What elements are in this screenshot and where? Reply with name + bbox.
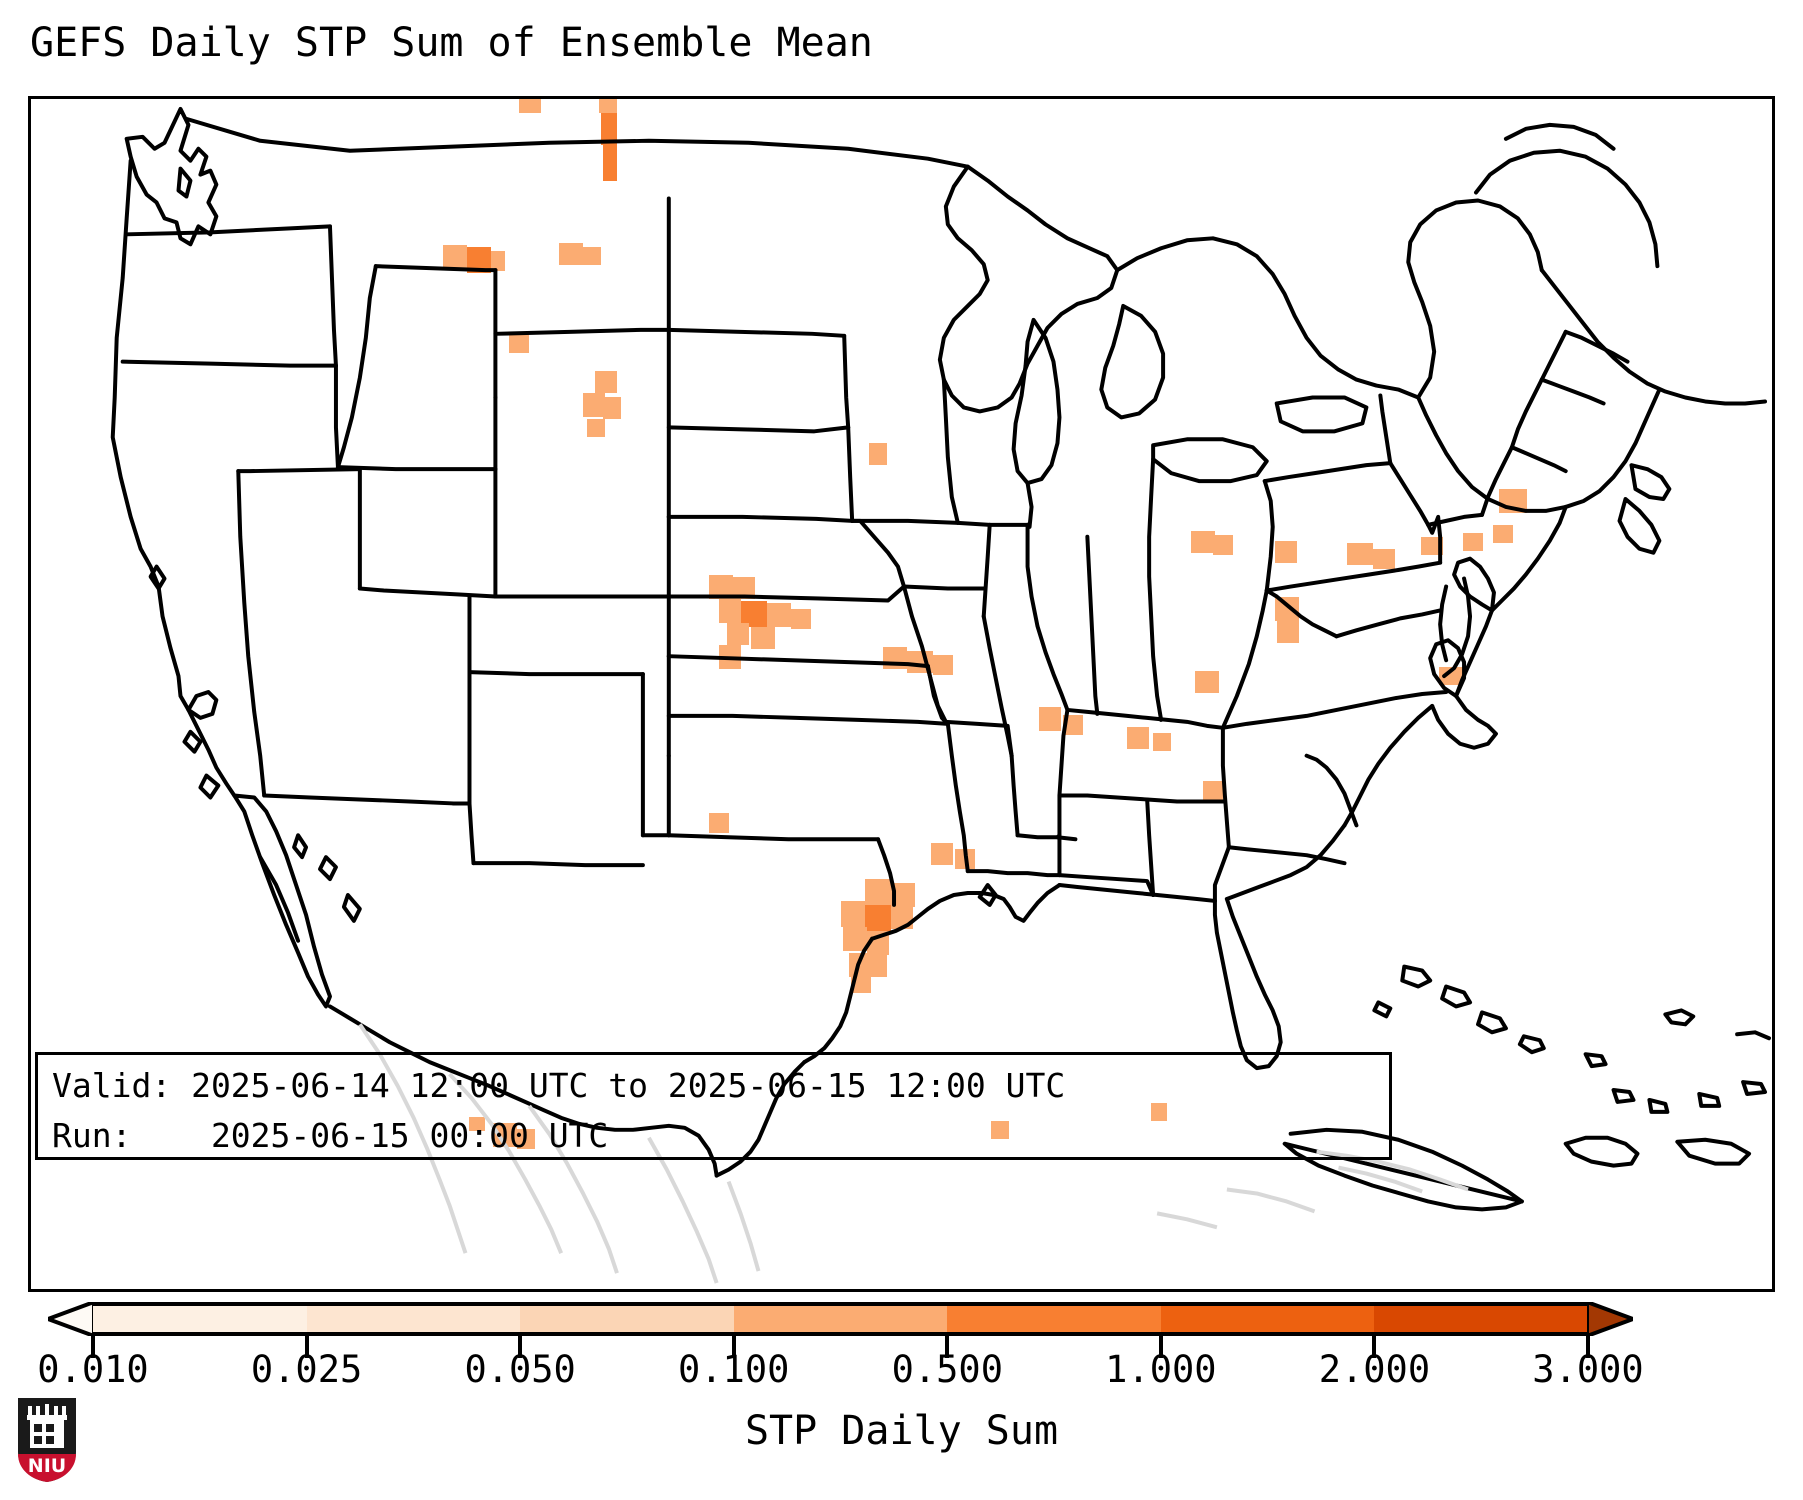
run-time-line: Run: 2025-06-15 00:00 UTC (52, 1111, 1375, 1161)
colorbar-tick-label-3: 0.100 (678, 1348, 789, 1391)
colorbar-over-arrow (1587, 1302, 1633, 1336)
coastline-and-border-paths (113, 109, 1769, 1209)
info-box: Valid: 2025-06-14 12:00 UTC to 2025-06-1… (35, 1052, 1392, 1160)
map-panel: Valid: 2025-06-14 12:00 UTC to 2025-06-1… (28, 96, 1775, 1292)
colorbar-segment-3 (734, 1306, 948, 1332)
colorbar-tick-label-5: 1.000 (1105, 1348, 1216, 1391)
colorbar-tick-label-0: 0.010 (37, 1348, 148, 1391)
colorbar-segment-5 (1161, 1306, 1375, 1332)
colorbar-segment-0 (93, 1306, 307, 1332)
colorbar-tick-label-6: 2.000 (1319, 1348, 1430, 1391)
colorbar-gradient (93, 1302, 1588, 1336)
niu-logo-text: NIU (28, 1455, 66, 1477)
colorbar-tick-label-4: 0.500 (892, 1348, 1003, 1391)
page-title: GEFS Daily STP Sum of Ensemble Mean (30, 20, 873, 66)
colorbar[interactable] (28, 1296, 1775, 1342)
valid-time-line: Valid: 2025-06-14 12:00 UTC to 2025-06-1… (52, 1061, 1375, 1111)
colorbar-tick-label-1: 0.025 (251, 1348, 362, 1391)
colorbar-under-arrow (48, 1302, 94, 1336)
colorbar-segment-1 (307, 1306, 521, 1332)
colorbar-segment-2 (520, 1306, 734, 1332)
colorbar-tick-label-2: 0.050 (464, 1348, 575, 1391)
colorbar-tick-label-7: 3.000 (1532, 1348, 1643, 1391)
colorbar-tick-labels: 0.0100.0250.0500.1000.5001.0002.0003.000 (0, 1348, 1803, 1400)
colorbar-axis-label: STP Daily Sum (0, 1408, 1803, 1454)
colorbar-segment-6 (1374, 1306, 1588, 1332)
colorbar-segment-4 (947, 1306, 1161, 1332)
niu-logo: NIU (16, 1396, 78, 1484)
